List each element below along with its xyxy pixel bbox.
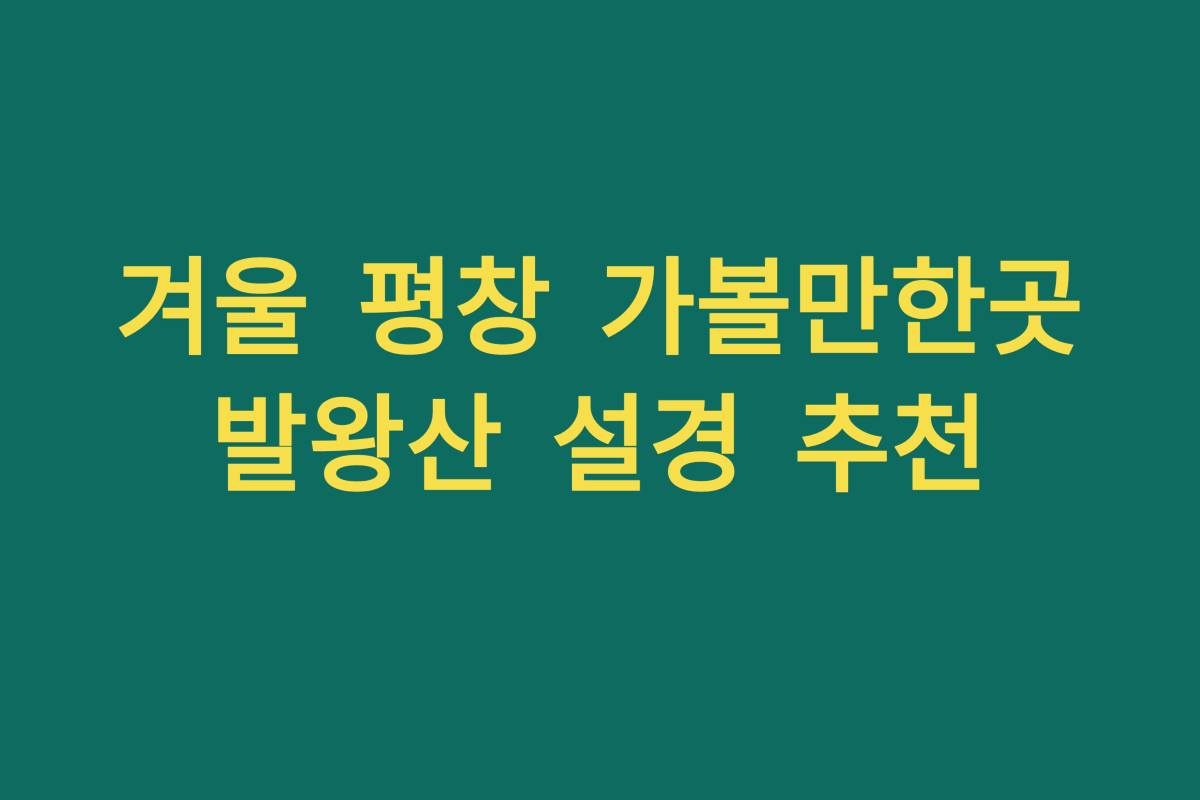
banner-canvas: 겨울 평창 가볼만한곳 발왕산 설경 추천 (0, 0, 1200, 800)
title-block: 겨울 평창 가볼만한곳 발왕산 설경 추천 (0, 241, 1200, 515)
title-line-1: 겨울 평창 가볼만한곳 (0, 241, 1200, 378)
title-line-2: 발왕산 설경 추천 (0, 378, 1200, 515)
